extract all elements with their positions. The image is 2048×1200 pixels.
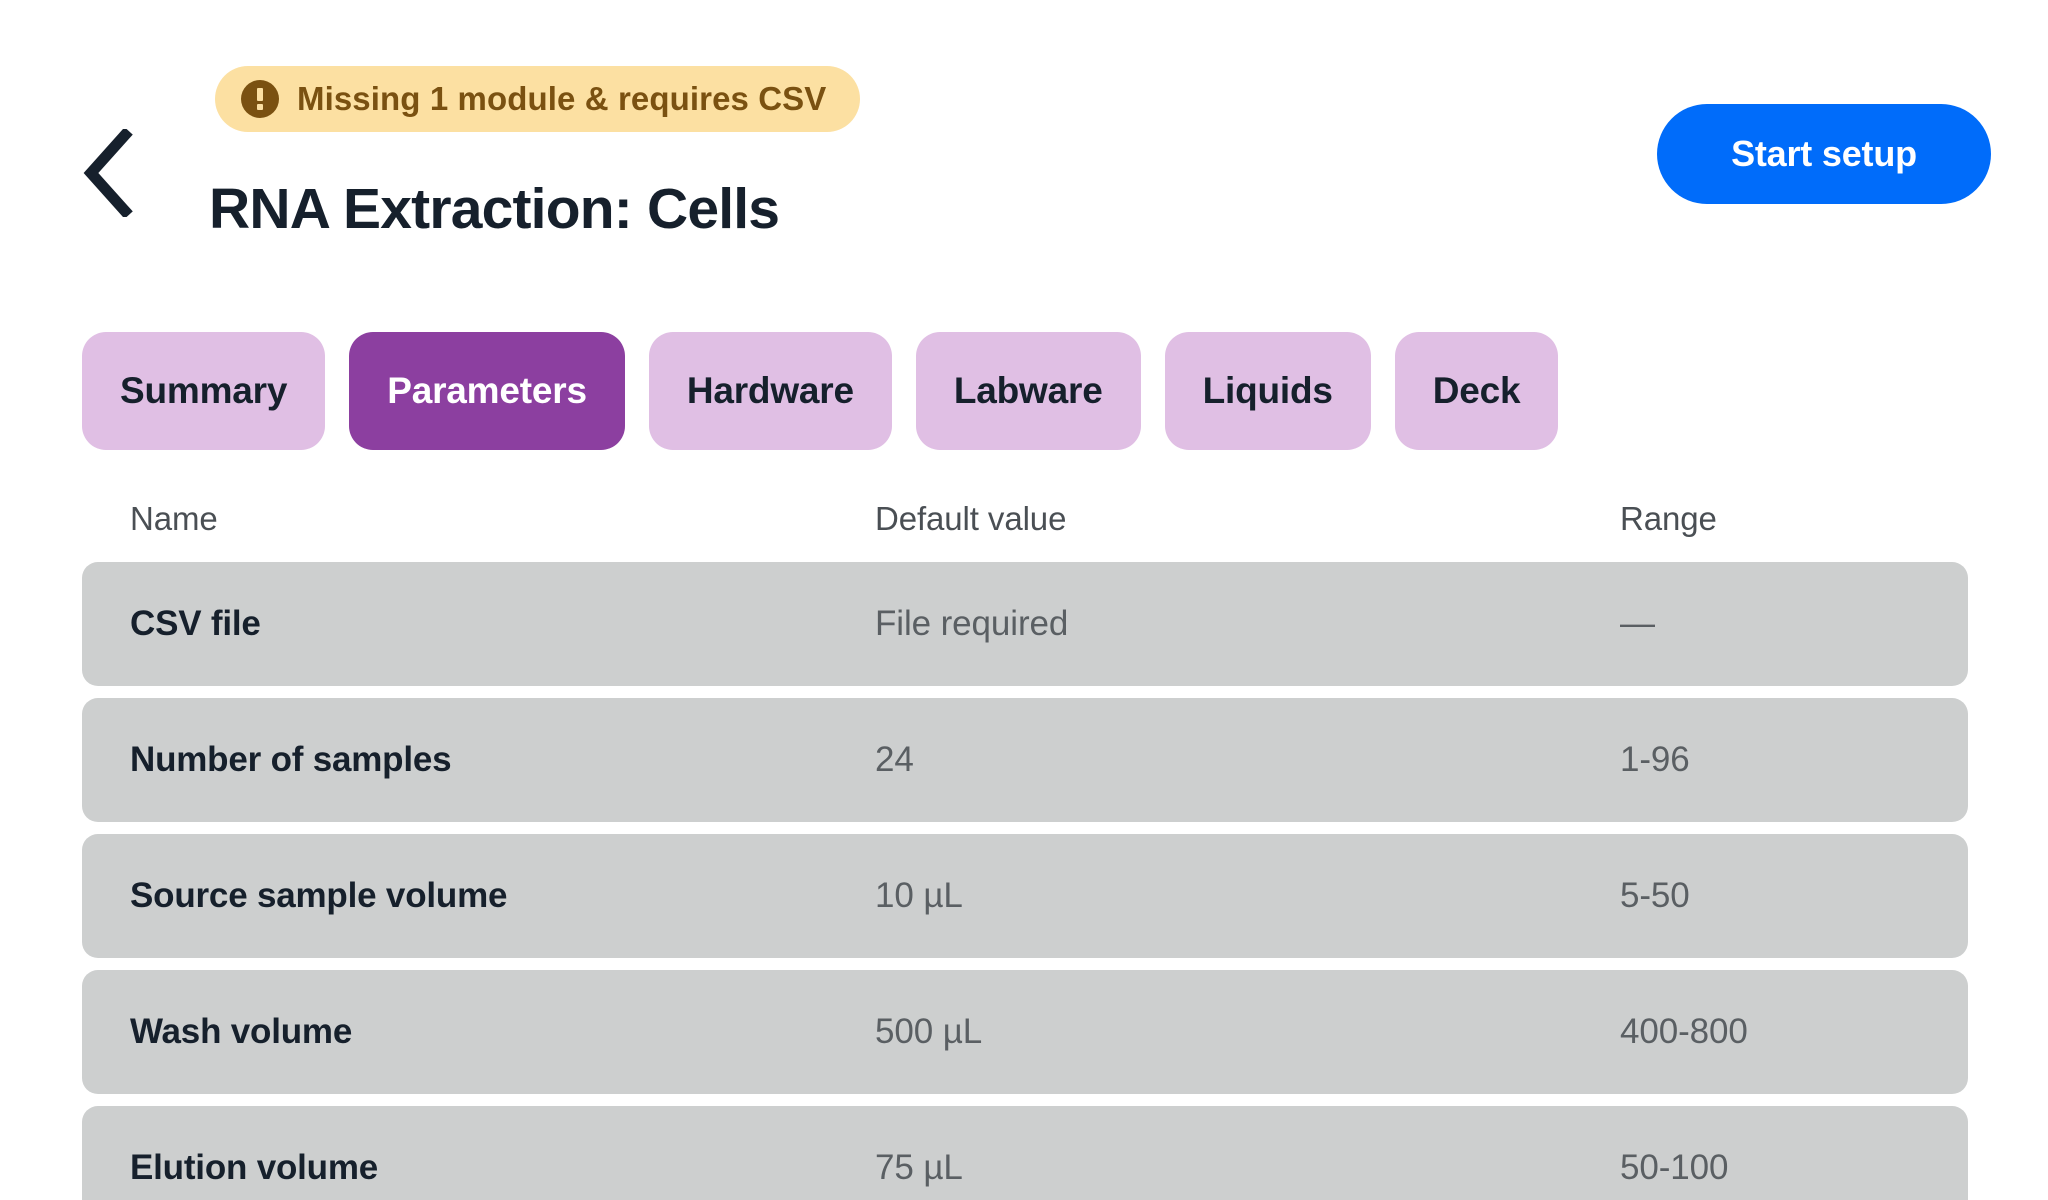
parameter-range: 50-100 (1620, 1148, 1968, 1188)
parameter-value: 500 µL (875, 1012, 1620, 1052)
parameter-value: 75 µL (875, 1148, 1620, 1188)
start-setup-button[interactable]: Start setup (1657, 104, 1991, 204)
tab-liquids[interactable]: Liquids (1165, 332, 1371, 450)
protocol-details-page: Missing 1 module & requires CSV RNA Extr… (0, 0, 2048, 1200)
tab-summary[interactable]: Summary (82, 332, 325, 450)
parameter-value: 10 µL (875, 876, 1620, 916)
tab-bar: Summary Parameters Hardware Labware Liqu… (82, 332, 1558, 450)
page-header: Missing 1 module & requires CSV RNA Extr… (0, 0, 2048, 300)
page-title: RNA Extraction: Cells (209, 176, 779, 242)
tab-hardware[interactable]: Hardware (649, 332, 892, 450)
status-badge: Missing 1 module & requires CSV (215, 66, 860, 132)
tab-labware[interactable]: Labware (916, 332, 1141, 450)
back-button[interactable] (62, 118, 152, 228)
parameter-name: Wash volume (130, 1012, 875, 1052)
parameter-range: 5-50 (1620, 876, 1968, 916)
parameter-name: Elution volume (130, 1148, 875, 1188)
tab-deck[interactable]: Deck (1395, 332, 1559, 450)
parameter-range: 400-800 (1620, 1012, 1968, 1052)
table-row[interactable]: CSV file File required — (82, 562, 1968, 686)
table-row[interactable]: Source sample volume 10 µL 5-50 (82, 834, 1968, 958)
column-header-name: Name (130, 500, 875, 538)
parameter-range: — (1620, 604, 1968, 644)
parameter-range: 1-96 (1620, 740, 1968, 780)
parameter-name: Number of samples (130, 740, 875, 780)
column-header-range: Range (1620, 500, 1968, 538)
parameter-name: CSV file (130, 604, 875, 644)
parameter-name: Source sample volume (130, 876, 875, 916)
table-row[interactable]: Wash volume 500 µL 400-800 (82, 970, 1968, 1094)
exclamation-circle-icon (241, 80, 279, 118)
column-header-default-value: Default value (875, 500, 1620, 538)
tab-parameters[interactable]: Parameters (349, 332, 625, 450)
parameter-value: File required (875, 604, 1620, 644)
table-row[interactable]: Elution volume 75 µL 50-100 (82, 1106, 1968, 1200)
parameters-table: Name Default value Range CSV file File r… (82, 500, 1968, 1200)
table-row[interactable]: Number of samples 24 1-96 (82, 698, 1968, 822)
parameter-value: 24 (875, 740, 1620, 780)
table-header-row: Name Default value Range (82, 500, 1968, 562)
chevron-left-icon (81, 129, 133, 217)
status-badge-label: Missing 1 module & requires CSV (297, 80, 826, 118)
